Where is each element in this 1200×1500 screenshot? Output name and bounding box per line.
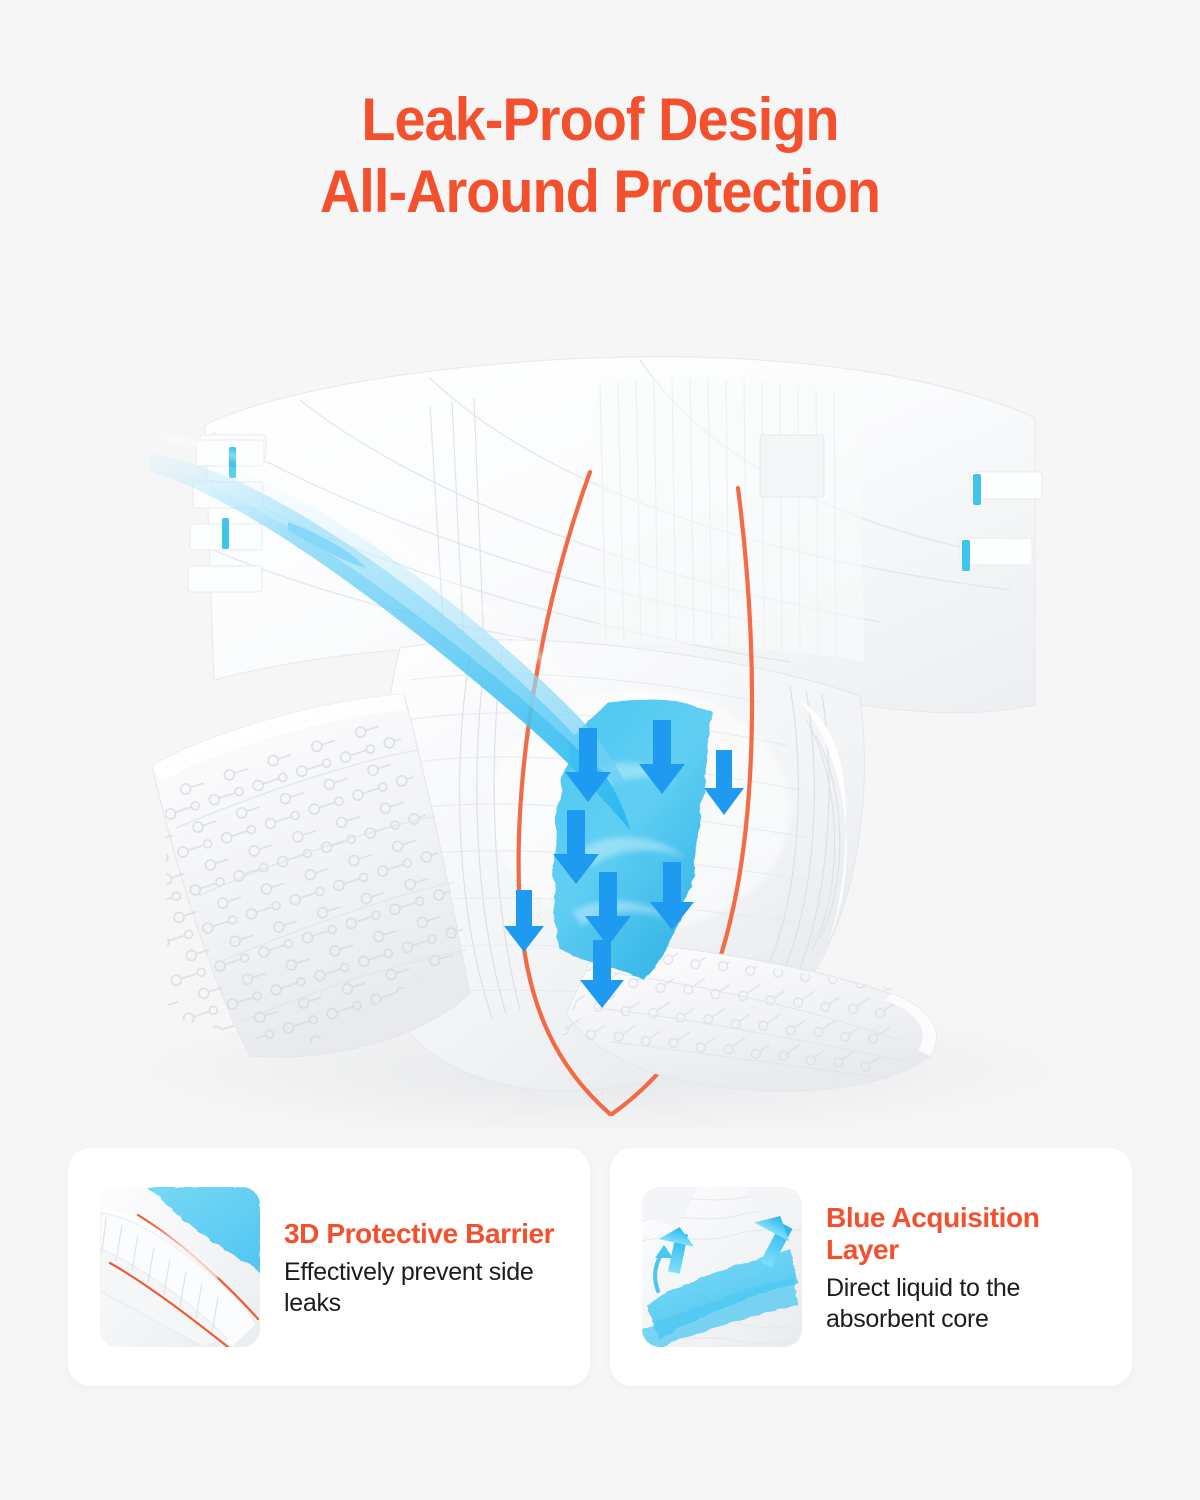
feature-card-title: 3D Protective Barrier [284, 1218, 568, 1250]
blue-acquisition-layer-thumbnail [642, 1187, 802, 1347]
page-title-line-2: All-Around Protection [42, 156, 1158, 228]
feature-card-description: Effectively prevent side leaks [284, 1257, 568, 1319]
feature-card-list: 3D Protective Barrier Effectively preven… [68, 1148, 1132, 1386]
feature-card-description: Direct liquid to the absorbent core [826, 1273, 1110, 1335]
feature-card-blue-acquisition-layer[interactable]: Blue Acquisition Layer Direct liquid to … [610, 1148, 1132, 1386]
feature-card-3d-protective-barrier[interactable]: 3D Protective Barrier Effectively preven… [68, 1148, 590, 1386]
hero-product-image [0, 250, 1200, 1130]
feature-card-title: Blue Acquisition Layer [826, 1202, 1110, 1266]
feature-card-text: 3D Protective Barrier Effectively preven… [284, 1216, 568, 1319]
page-title-line-1: Leak-Proof Design [361, 86, 838, 153]
3d-protective-barrier-thumbnail [100, 1187, 260, 1347]
page-title: Leak-Proof Design All-Around Protection [42, 84, 1158, 228]
feature-card-text: Blue Acquisition Layer Direct liquid to … [826, 1200, 1110, 1335]
